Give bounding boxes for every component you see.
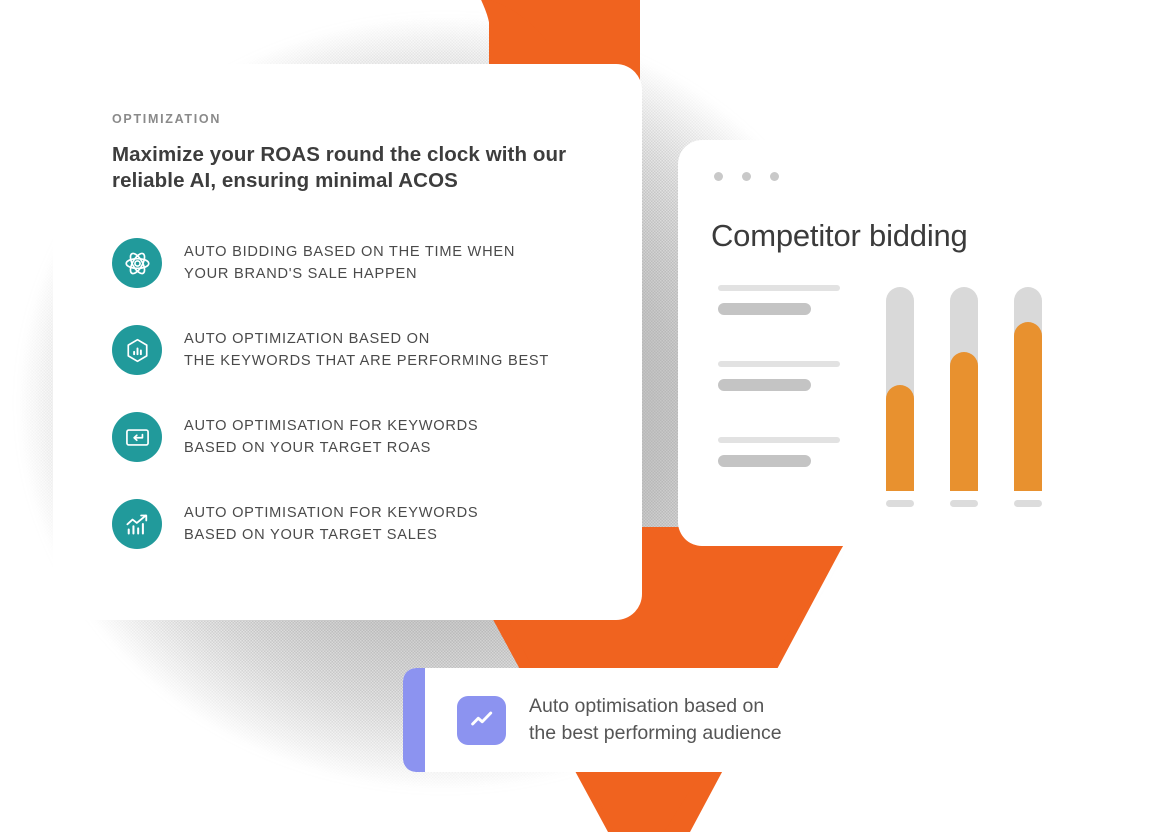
hexagon-chart-icon <box>112 325 162 375</box>
bar-tick <box>886 500 914 507</box>
skeleton-row <box>718 437 840 467</box>
skeleton-placeholder-list <box>718 285 840 513</box>
skeleton-line-thin <box>718 285 840 291</box>
feature-item[interactable]: AUTO OPTIMISATION FOR KEYWORDS BASED ON … <box>112 412 596 462</box>
line-chart-icon <box>457 696 506 745</box>
bar-track <box>1014 287 1042 491</box>
panel-title: Competitor bidding <box>711 218 968 254</box>
competitor-bidding-card: Competitor bidding <box>678 140 1153 546</box>
feature-list: AUTO BIDDING BASED ON THE TIME WHEN YOUR… <box>112 238 596 549</box>
skeleton-row <box>718 361 840 391</box>
bar-column[interactable] <box>886 287 914 507</box>
window-dots <box>714 172 779 181</box>
feature-label: AUTO OPTIMIZATION BASED ON THE KEYWORDS … <box>184 328 549 372</box>
bar-tick <box>1014 500 1042 507</box>
card-headline: Maximize your ROAS round the clock with … <box>112 142 582 194</box>
card-eyebrow: OPTIMIZATION <box>112 112 596 126</box>
optimization-card: OPTIMIZATION Maximize your ROAS round th… <box>53 64 642 620</box>
window-dot <box>714 172 723 181</box>
skeleton-line-thick <box>718 303 811 315</box>
skeleton-line-thick <box>718 455 811 467</box>
feature-item[interactable]: AUTO OPTIMISATION FOR KEYWORDS BASED ON … <box>112 499 596 549</box>
bar-column[interactable] <box>1014 287 1042 507</box>
bar-fill <box>950 352 978 491</box>
bar-track <box>950 287 978 491</box>
feature-item[interactable]: AUTO OPTIMIZATION BASED ON THE KEYWORDS … <box>112 325 596 375</box>
toast-accent-bar <box>403 668 425 772</box>
bar-tick <box>950 500 978 507</box>
window-dot <box>770 172 779 181</box>
bar-fill <box>886 385 914 491</box>
feature-label: AUTO BIDDING BASED ON THE TIME WHEN YOUR… <box>184 241 515 285</box>
feature-label: AUTO OPTIMISATION FOR KEYWORDS BASED ON … <box>184 415 478 459</box>
bar-track <box>886 287 914 491</box>
atom-icon <box>112 238 162 288</box>
enter-key-icon <box>112 412 162 462</box>
audience-optimisation-toast[interactable]: Auto optimisation based on the best perf… <box>403 668 883 772</box>
bar-chart <box>886 287 1042 507</box>
bar-chart-arrow-icon <box>112 499 162 549</box>
feature-item[interactable]: AUTO BIDDING BASED ON THE TIME WHEN YOUR… <box>112 238 596 288</box>
bar-fill <box>1014 322 1042 491</box>
illustration-stage: OPTIMIZATION Maximize your ROAS round th… <box>0 0 1153 832</box>
skeleton-line-thick <box>718 379 811 391</box>
feature-label: AUTO OPTIMISATION FOR KEYWORDS BASED ON … <box>184 502 478 546</box>
skeleton-line-thin <box>718 437 840 443</box>
skeleton-line-thin <box>718 361 840 367</box>
skeleton-row <box>718 285 840 315</box>
toast-label: Auto optimisation based on the best perf… <box>529 693 782 748</box>
bar-column[interactable] <box>950 287 978 507</box>
window-dot <box>742 172 751 181</box>
